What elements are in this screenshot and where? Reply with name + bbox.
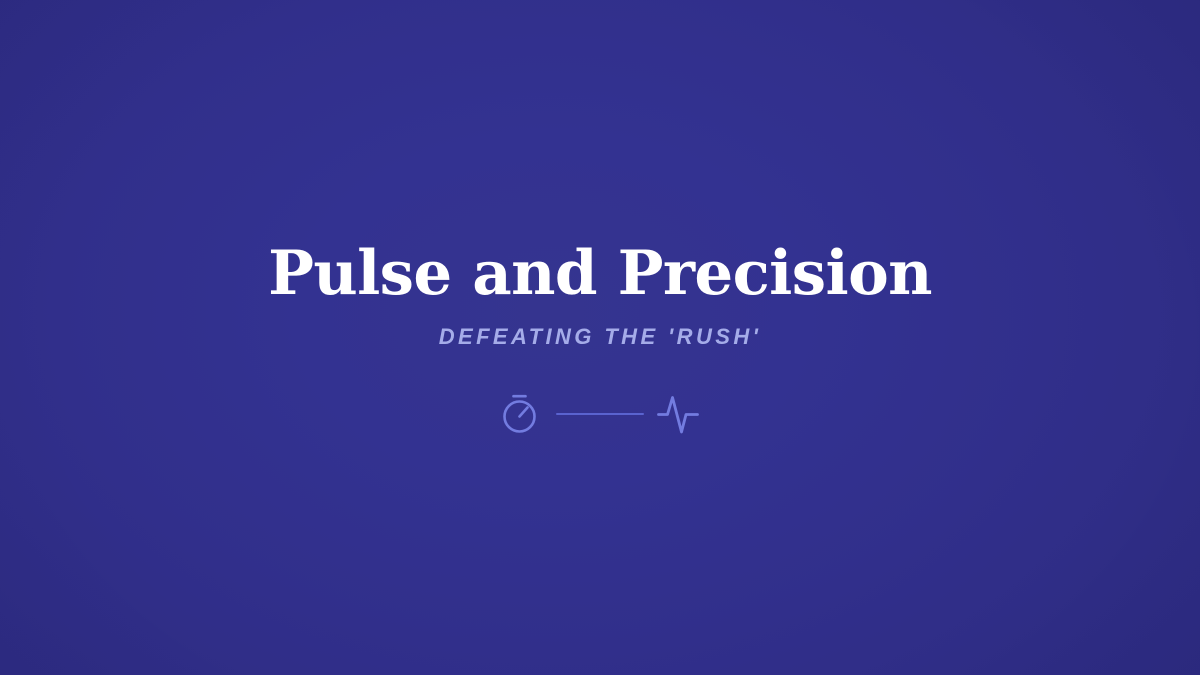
page-title: Pulse and Precision bbox=[0, 238, 1200, 310]
ornament-row bbox=[0, 391, 1200, 437]
pulse-waveform-icon bbox=[656, 392, 700, 436]
page-subtitle: DEFEATING THE 'RUSH' bbox=[0, 322, 1200, 352]
title-slide: Pulse and Precision DEFEATING THE 'RUSH' bbox=[0, 0, 1200, 675]
stopwatch-icon bbox=[500, 392, 544, 436]
ornament-divider bbox=[556, 413, 644, 415]
